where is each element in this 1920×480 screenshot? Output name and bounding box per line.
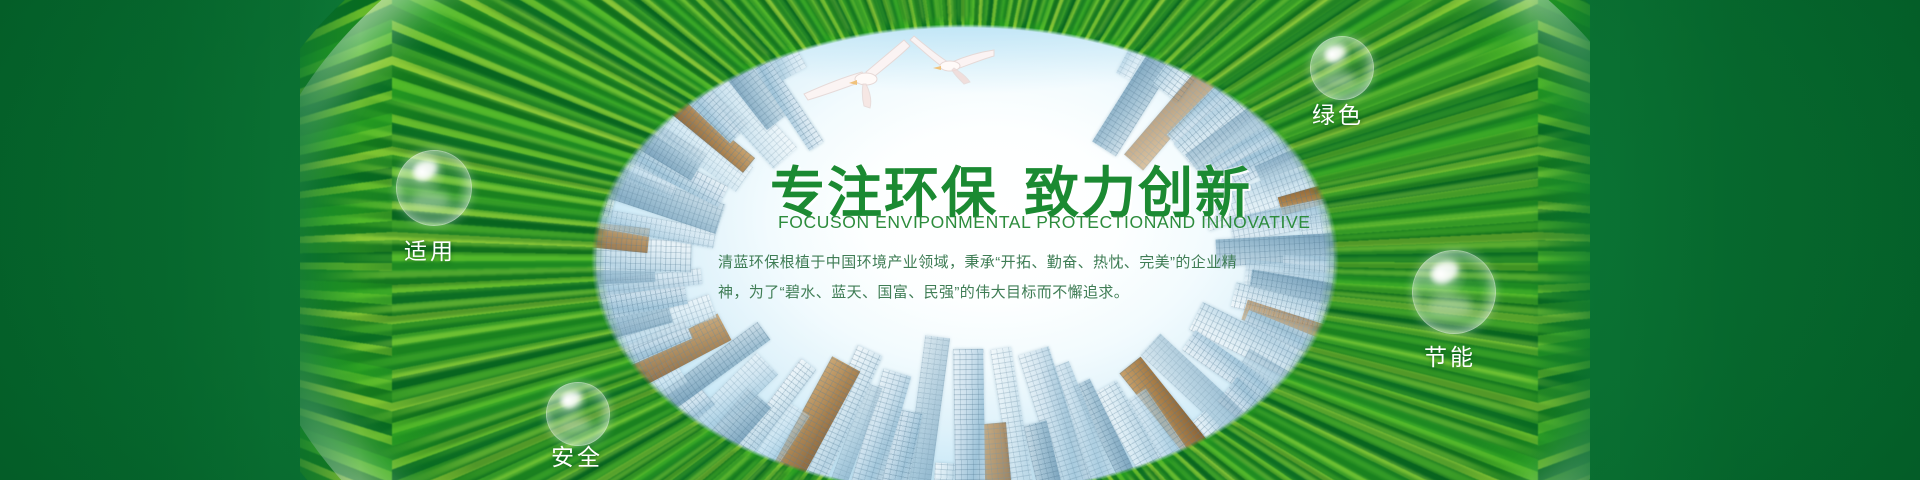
bubble-icon-shiyong <box>396 150 472 226</box>
right-green-panel <box>1590 0 1920 480</box>
bubble-icon-jieneng <box>1412 250 1496 334</box>
feature-label-shiyong: 适用 <box>404 232 456 266</box>
seagull-left-icon <box>800 32 920 115</box>
seagull-right-icon <box>908 26 1004 93</box>
feature-label-jieneng: 节能 <box>1424 338 1476 372</box>
bubble-icon-anquan <box>546 382 610 446</box>
feature-label-anquan: 安全 <box>551 438 603 472</box>
feature-label-lvse: 绿色 <box>1312 96 1364 130</box>
left-green-panel <box>0 0 300 480</box>
company-description: 清蓝环保根植于中国环境产业领域，秉承“开拓、勤奋、热忱、完美”的企业精神，为了“… <box>718 248 1248 308</box>
page-subtitle: FOCUSON ENVIPONMENTAL PROTECTIONAND INNO… <box>778 212 1311 233</box>
bubble-icon-lvse <box>1310 36 1374 100</box>
environmental-hero-banner: 适用 安全 绿色 节能 专注环保致力创新 FOCUSON ENVIPONMENT… <box>0 0 1920 480</box>
